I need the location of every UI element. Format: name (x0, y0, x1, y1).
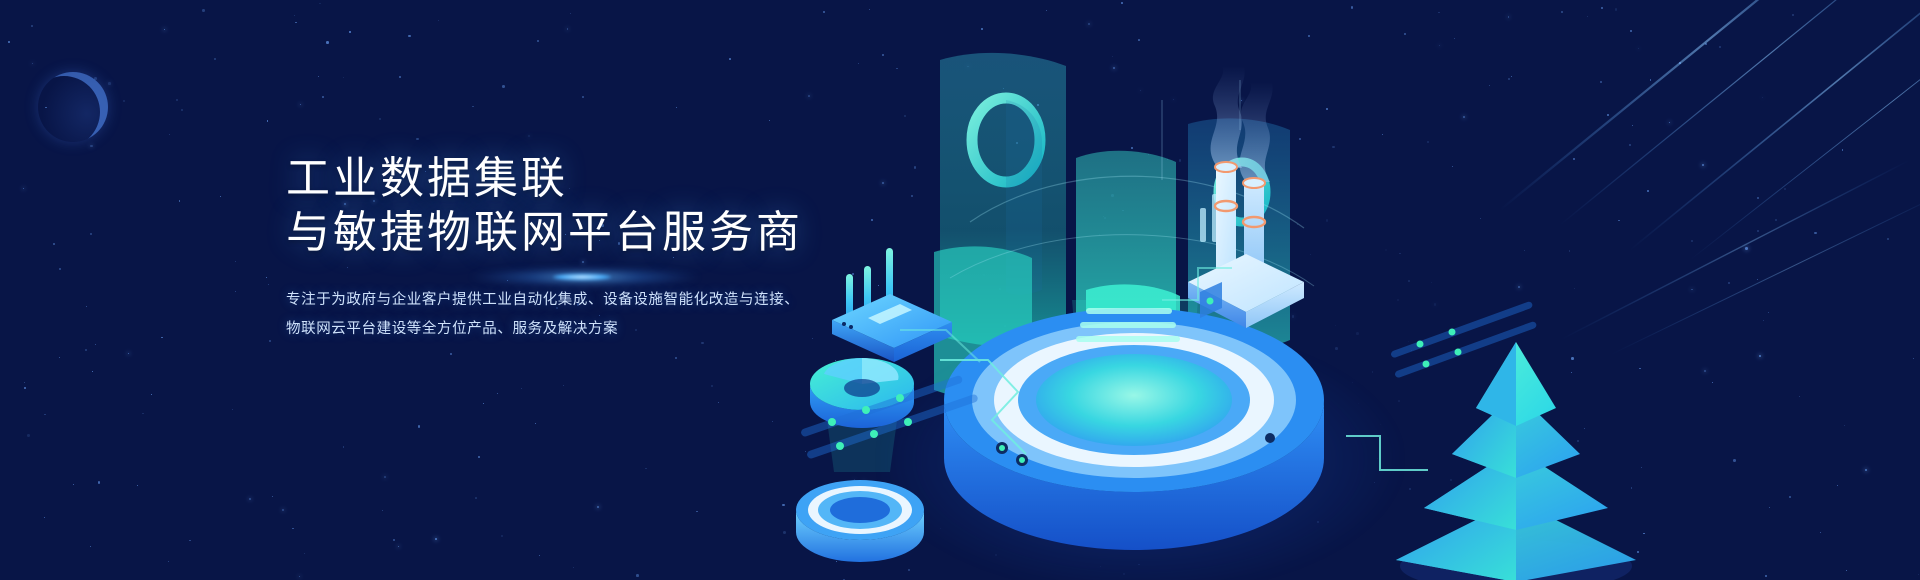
star (169, 134, 170, 135)
data-cables (780, 0, 1920, 580)
star (73, 484, 74, 485)
star (343, 77, 344, 78)
star (570, 13, 571, 14)
star (528, 135, 530, 137)
star (567, 28, 568, 29)
star (8, 41, 10, 43)
star (95, 344, 96, 345)
star (23, 188, 24, 189)
star (563, 385, 564, 386)
star (53, 243, 55, 245)
star (729, 58, 731, 60)
star (168, 561, 170, 563)
star (772, 421, 773, 422)
star (539, 555, 540, 556)
star (268, 284, 269, 285)
star (123, 100, 125, 102)
star (137, 485, 138, 486)
star (235, 261, 236, 262)
star (59, 357, 60, 358)
star (232, 409, 233, 410)
star (483, 403, 484, 404)
star (597, 506, 599, 508)
headline-glow-core (553, 274, 611, 280)
star (98, 481, 100, 483)
star (521, 388, 522, 389)
crescent-moon-icon (38, 72, 108, 142)
star (322, 96, 324, 98)
star (573, 567, 574, 568)
iot-illustration (780, 0, 1920, 580)
star (189, 540, 190, 541)
star (349, 31, 350, 32)
star (398, 546, 399, 547)
star (450, 353, 452, 355)
star (235, 291, 236, 292)
star (408, 35, 411, 38)
star (92, 371, 93, 372)
star (718, 402, 719, 403)
star (32, 63, 33, 64)
star (90, 546, 91, 547)
star (393, 539, 395, 541)
star (31, 25, 33, 27)
star (501, 535, 503, 537)
star (300, 104, 301, 105)
star (438, 20, 439, 21)
star (294, 15, 295, 16)
star (151, 394, 152, 395)
star (181, 109, 183, 111)
star (128, 353, 129, 354)
star (318, 76, 319, 77)
star (676, 107, 677, 108)
star (86, 306, 87, 307)
star (326, 41, 329, 44)
star (769, 120, 770, 121)
star (537, 40, 539, 42)
star (44, 517, 46, 519)
star (27, 434, 30, 437)
star (416, 138, 418, 140)
star (164, 29, 165, 30)
star (304, 553, 305, 554)
star (202, 9, 205, 12)
star (382, 510, 383, 511)
star (161, 337, 163, 339)
star (292, 528, 294, 530)
star (220, 196, 222, 198)
star (214, 58, 216, 60)
star (249, 498, 251, 500)
star (472, 106, 473, 107)
star (675, 357, 678, 360)
star (343, 446, 345, 448)
star (582, 96, 584, 98)
star (108, 82, 111, 85)
star (272, 496, 273, 497)
star (497, 393, 498, 394)
star (282, 509, 284, 511)
star (90, 145, 93, 148)
star (44, 414, 46, 416)
star (399, 76, 401, 78)
star (179, 200, 181, 202)
star (24, 382, 25, 383)
star (502, 85, 505, 88)
star (645, 468, 647, 470)
star (319, 3, 321, 5)
star (142, 413, 144, 415)
star (696, 511, 698, 513)
star (711, 385, 714, 388)
star (418, 425, 421, 428)
star (24, 387, 27, 390)
star (379, 118, 381, 120)
star (176, 99, 178, 101)
star (295, 22, 297, 24)
star (90, 233, 91, 234)
hero-banner: 工业数据集联 与敏捷物联网平台服务商 专注于为政府与企业客户提供工业自动化集成、… (0, 0, 1920, 580)
star (59, 268, 61, 270)
star (269, 340, 271, 342)
star (535, 423, 536, 424)
star (636, 574, 639, 577)
star (435, 538, 437, 540)
star (267, 120, 268, 121)
star (384, 476, 386, 478)
star (475, 497, 477, 499)
star (85, 349, 87, 351)
star (266, 277, 267, 278)
star (478, 456, 480, 458)
star (299, 576, 300, 577)
